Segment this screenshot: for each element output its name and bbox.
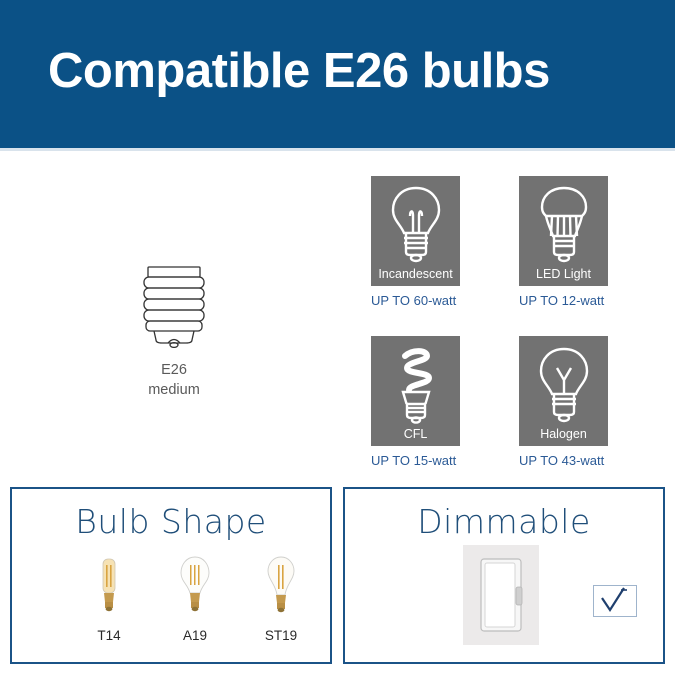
- check-mark-icon: [594, 601, 634, 618]
- tile-label: Halogen: [519, 428, 608, 441]
- dimmer-switch-icon: [463, 545, 539, 645]
- tile-caption: UP TO 60-watt: [371, 293, 460, 308]
- pear-bulb-icon: [178, 604, 212, 621]
- dimmable-checkbox[interactable]: [593, 585, 637, 617]
- bulb-type-card-halogen[interactable]: Halogen UP TO 43-watt: [519, 336, 608, 468]
- tile-led-light[interactable]: LED Light: [519, 176, 608, 286]
- tile-caption: UP TO 12-watt: [519, 293, 608, 308]
- tubular-bulb-icon: [92, 604, 126, 621]
- tile-incandescent[interactable]: Incandescent: [371, 176, 460, 286]
- bulb-shape-title: Bulb Shape: [12, 505, 330, 538]
- bulb-type-card-cfl[interactable]: CFL UP TO 15-watt: [371, 336, 460, 468]
- tile-label: LED Light: [519, 268, 608, 281]
- bulb-shape-list: T14 A19: [80, 555, 310, 643]
- tile-caption: UP TO 15-watt: [371, 453, 460, 468]
- e26-code: E26: [161, 362, 187, 378]
- bulb-type-card-led[interactable]: LED Light UP TO 12-watt: [519, 176, 608, 308]
- bulb-shape-name: T14: [80, 628, 138, 643]
- bulb-shape-name: ST19: [252, 628, 310, 643]
- tile-halogen[interactable]: Halogen: [519, 336, 608, 446]
- bulb-type-card-incandescent[interactable]: Incandescent UP TO 60-watt: [371, 176, 460, 308]
- page-title: Compatible E26 bulbs: [48, 47, 550, 96]
- tile-label: CFL: [371, 428, 460, 441]
- dimmable-panel: Dimmable: [343, 487, 665, 664]
- bulb-shape-item-a19[interactable]: A19: [166, 555, 224, 643]
- tile-cfl[interactable]: CFL: [371, 336, 460, 446]
- bulb-shape-item-st19[interactable]: ST19: [252, 555, 310, 643]
- page-header: Compatible E26 bulbs: [0, 0, 675, 148]
- bulb-shape-panel: Bulb Shape T14: [10, 487, 332, 664]
- bulb-shape-name: A19: [166, 628, 224, 643]
- e26-base-label: E26 medium: [104, 361, 244, 400]
- e26-size-name: medium: [148, 382, 200, 398]
- teardrop-bulb-icon: [264, 604, 298, 621]
- bulb-shape-item-t14[interactable]: T14: [80, 555, 138, 643]
- e26-base-block: E26 medium: [104, 262, 244, 400]
- header-divider: [0, 148, 675, 151]
- screw-base-socket-icon: [132, 335, 216, 352]
- tile-label: Incandescent: [371, 268, 460, 281]
- tile-caption: UP TO 43-watt: [519, 453, 608, 468]
- dimmable-title: Dimmable: [345, 505, 663, 538]
